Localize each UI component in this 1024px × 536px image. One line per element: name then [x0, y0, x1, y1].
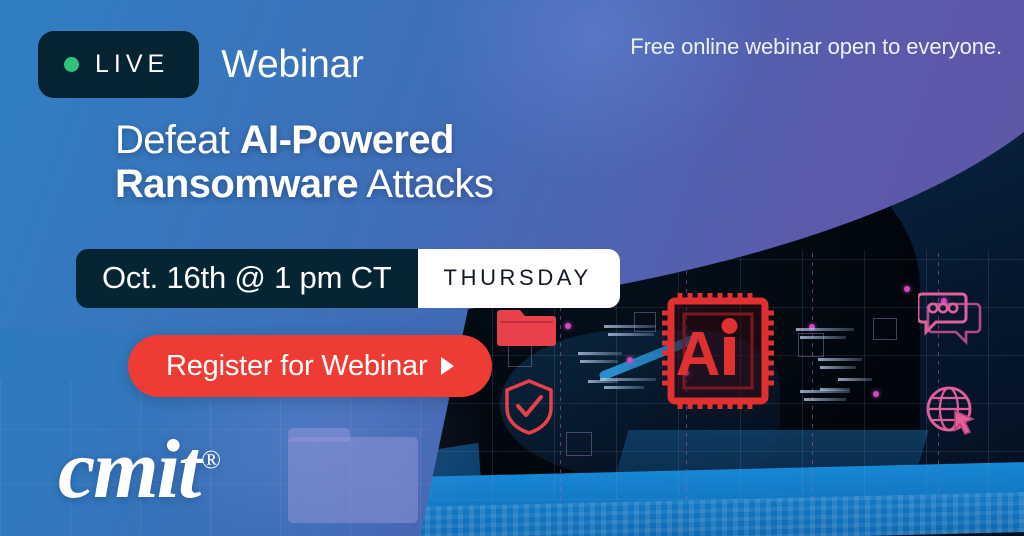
- cmit-logo[interactable]: cmit®: [58, 418, 219, 512]
- datetime-badge: Oct. 16th @ 1 pm CT: [76, 249, 418, 308]
- page-title: Defeat AI-Powered Ransomware Attacks: [115, 118, 493, 206]
- logo-trademark: ®: [201, 445, 219, 474]
- register-button[interactable]: Register for Webinar: [128, 335, 492, 397]
- tagline: Free online webinar open to everyone.: [630, 34, 1002, 60]
- webinar-banner: A LIVE: [0, 0, 1024, 536]
- live-dot-icon: [64, 57, 79, 72]
- weekday-badge: THURSDAY: [418, 249, 620, 308]
- live-badge: LIVE: [38, 31, 199, 98]
- schedule-row: Oct. 16th @ 1 pm CT THURSDAY: [76, 249, 620, 308]
- headline-line2-bold: Ransomware: [115, 162, 358, 206]
- headline-line1-bold: AI-Powered: [240, 118, 454, 162]
- play-arrow-icon: [441, 357, 454, 375]
- register-button-label: Register for Webinar: [166, 350, 427, 383]
- headline-line2-plain: Attacks: [358, 162, 493, 206]
- live-label: LIVE: [95, 50, 169, 79]
- logo-wordmark: cmit: [58, 423, 199, 516]
- banner-content: LIVE Webinar Free online webinar open to…: [0, 0, 1024, 536]
- webinar-label: Webinar: [221, 43, 363, 87]
- live-webinar-row: LIVE Webinar: [38, 31, 364, 98]
- headline-line1-plain: Defeat: [115, 118, 240, 162]
